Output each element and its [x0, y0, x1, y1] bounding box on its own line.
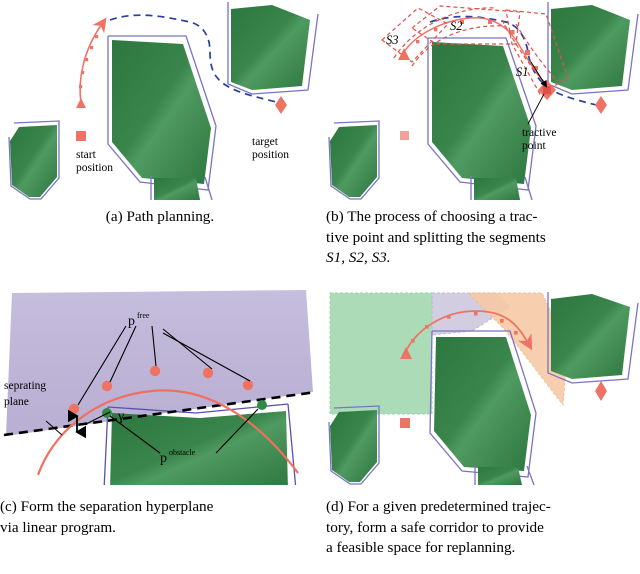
obstacle-left-small — [329, 406, 379, 484]
panel-d-safe-corridor — [320, 285, 640, 485]
free-point-1 — [69, 404, 79, 414]
start-label-line2: position — [76, 162, 113, 174]
caption-d-line2: tory, form a safe corridor to provide — [326, 518, 634, 539]
caption-c-line1: (c) Form the separation hyperplane — [0, 497, 312, 518]
corridor-region-green — [330, 293, 432, 414]
target-label-line2: position — [252, 149, 289, 161]
caption-d: (d) For a given predetermined trajec- to… — [326, 497, 634, 559]
caption-b-line2: tive point and splitting the segments — [326, 228, 632, 249]
separating-plane-line2: plane — [4, 396, 29, 408]
panel-c-separation-hyperplane: p free p obstacle seprating plane γ — [0, 285, 320, 485]
caption-b-line1: (b) The process of choosing a trac- — [326, 207, 632, 228]
target-label-line1: target — [252, 136, 279, 148]
caption-a-text: (a) Path planning. — [0, 207, 320, 228]
p-free-sup: free — [137, 311, 150, 320]
caption-d-line3: a feasible space for replanning. — [326, 538, 634, 559]
figure-container: start position target position — [0, 0, 640, 574]
separating-plane-line1: seprating — [4, 380, 46, 392]
gamma-label: γ — [117, 409, 124, 424]
free-point-3 — [150, 366, 160, 376]
panel-a-path-planning: start position target position — [0, 0, 320, 200]
p-obstacle-sup: obstacle — [169, 448, 196, 457]
panel-c-svg: p free p obstacle seprating plane γ — [0, 285, 320, 485]
label-s2: S2 — [450, 19, 463, 33]
tractive-label-line1: tractive — [522, 127, 556, 139]
start-square-marker — [400, 418, 410, 428]
free-point-5 — [243, 380, 253, 390]
start-square-marker — [76, 131, 86, 141]
panel-b-tractive-point: S3 S2 S1 tractive point — [320, 0, 640, 200]
p-free-base: p — [128, 314, 135, 329]
obstacle-left-small — [329, 121, 379, 199]
label-s1: S1 — [516, 65, 529, 79]
panel-d-svg — [320, 285, 640, 485]
caption-b-line3: S1, S2, S3. — [326, 248, 632, 269]
p-obstacle-base: p — [160, 451, 167, 466]
start-label-line1: start — [76, 149, 97, 161]
tractive-label-line2: point — [522, 140, 546, 152]
obstacle-left-small — [9, 121, 59, 199]
panel-a-svg: start position target position — [0, 0, 320, 200]
panel-b-svg: S3 S2 S1 tractive point — [320, 0, 640, 200]
caption-b: (b) The process of choosing a trac- tive… — [326, 207, 632, 269]
caption-d-line1: (d) For a given predetermined trajec- — [326, 497, 634, 518]
caption-c-line2: via linear program. — [0, 518, 312, 539]
label-s3: S3 — [386, 33, 399, 47]
caption-a: (a) Path planning. — [0, 207, 320, 228]
start-square-marker — [400, 131, 409, 140]
caption-c: (c) Form the separation hyperplane via l… — [0, 497, 312, 538]
obstacle-point-2 — [257, 400, 267, 410]
free-point-2 — [102, 381, 112, 391]
